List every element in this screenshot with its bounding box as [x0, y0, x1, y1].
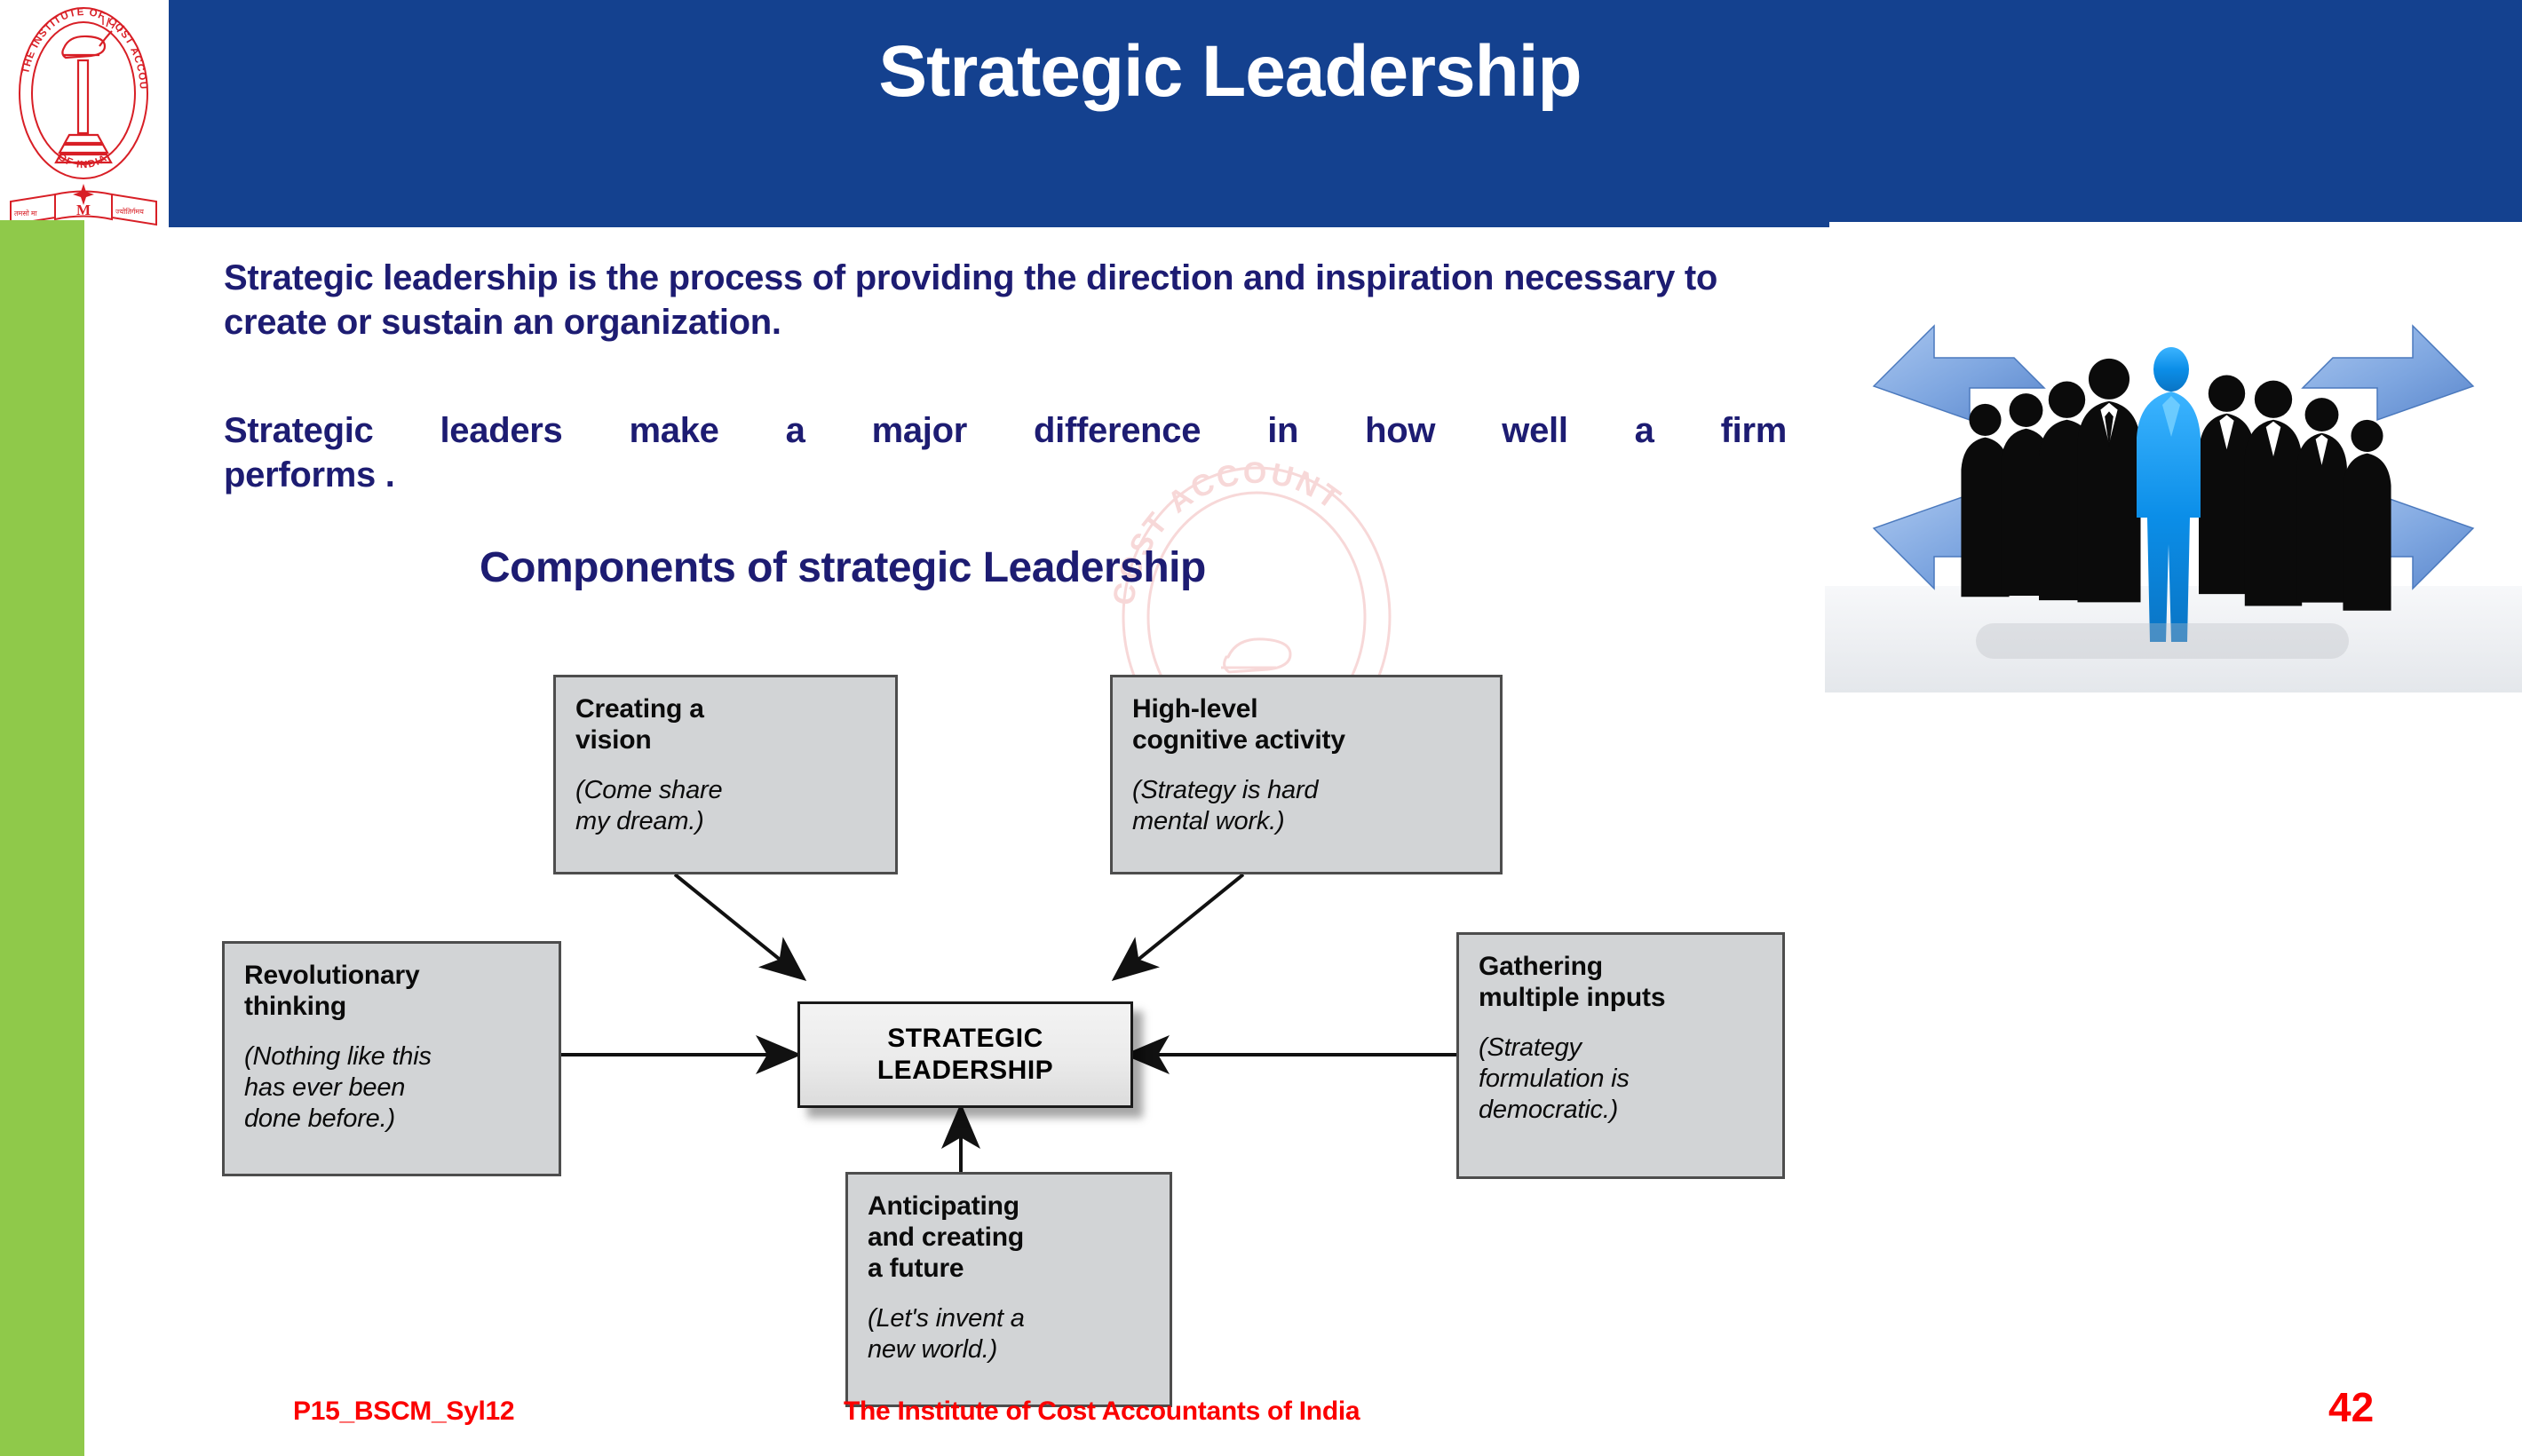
left-accent-strip	[0, 220, 84, 1456]
box-title-line-1: Creating a	[575, 693, 877, 724]
components-diagram: Creating a vision (Come share my dream.)…	[222, 657, 1785, 1367]
box-note-line-3: done before.)	[244, 1104, 541, 1135]
box-note-line-1: (Come share	[575, 775, 877, 806]
second-paragraph-line-1: Strategic leaders make a major differenc…	[224, 408, 1787, 453]
diagram-box-revolutionary-thinking: Revolutionary thinking (Nothing like thi…	[222, 941, 561, 1176]
box-title-line-1: High-level	[1132, 693, 1482, 724]
components-heading: Components of strategic Leadership	[480, 543, 1206, 592]
svg-text:M: M	[76, 202, 91, 218]
box-title-line-2: and creating	[868, 1222, 1152, 1253]
footer-subject-code: P15_BSCM_Syl12	[293, 1397, 514, 1427]
center-box-line-1: STRATEGIC	[877, 1023, 1053, 1055]
institute-logo: THE INSTITUTE OF COST ACCOUNTANTS OF IND…	[7, 2, 160, 228]
box-note-line-2: has ever been	[244, 1072, 541, 1104]
box-note-line-1: (Strategy is hard	[1132, 775, 1482, 806]
intro-paragraph: Strategic leadership is the process of p…	[224, 256, 1787, 344]
diagram-box-strategic-leadership: STRATEGIC LEADERSHIP	[797, 1001, 1133, 1108]
box-note-line-2: my dream.)	[575, 806, 877, 837]
diagram-box-gathering-multiple-inputs: Gathering multiple inputs (Strategy form…	[1456, 932, 1785, 1179]
box-title-line-1: Revolutionary	[244, 960, 541, 991]
box-title-line-2: cognitive activity	[1132, 724, 1482, 756]
box-title-line-2: thinking	[244, 991, 541, 1022]
box-note-line-2: mental work.)	[1132, 806, 1482, 837]
second-paragraph-line-2: performs .	[224, 453, 1787, 497]
diagram-box-anticipating-and-creating-a-future: Anticipating and creating a future (Let'…	[845, 1172, 1172, 1407]
box-note-line-3: democratic.)	[1479, 1095, 1765, 1126]
box-title-line-2: multiple inputs	[1479, 982, 1765, 1013]
box-title-line-2: vision	[575, 724, 877, 756]
box-title-line-3: a future	[868, 1253, 1152, 1284]
box-title-line-1: Anticipating	[868, 1191, 1152, 1222]
logo-banner-text-left: तमसो मा	[14, 209, 38, 218]
center-box-line-2: LEADERSHIP	[877, 1055, 1053, 1087]
logo-banner-text-right: ज्योतिर्गमय	[115, 207, 144, 216]
second-paragraph: Strategic leaders make a major differenc…	[224, 408, 1787, 497]
box-note-line-1: (Let's invent a	[868, 1303, 1152, 1334]
page-number: 42	[2328, 1383, 2374, 1431]
box-note-line-1: (Nothing like this	[244, 1041, 541, 1072]
box-note-line-2: formulation is	[1479, 1064, 1765, 1095]
diagram-box-creating-a-vision: Creating a vision (Come share my dream.)	[553, 675, 898, 874]
footer-organization: The Institute of Cost Accountants of Ind…	[844, 1397, 1360, 1427]
team-leadership-photo	[1825, 266, 2522, 692]
box-title-line-1: Gathering	[1479, 951, 1765, 982]
page-title: Strategic Leadership	[169, 34, 2291, 110]
box-note-line-1: (Strategy	[1479, 1033, 1765, 1064]
box-note-line-2: new world.)	[868, 1334, 1152, 1365]
diagram-box-high-level-cognitive-activity: High-level cognitive activity (Strategy …	[1110, 675, 1503, 874]
